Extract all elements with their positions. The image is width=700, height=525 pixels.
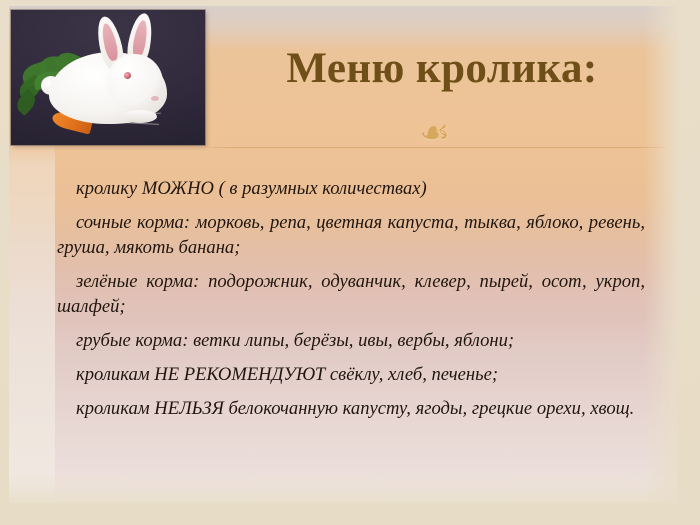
paragraph-not-recommended: кроликам НЕ РЕКОМЕНДУЮТ свёклу, хлеб, пе… xyxy=(57,362,645,387)
paragraph-juicy-feed: сочные корма: морковь, репа, цветная кап… xyxy=(57,210,645,260)
rabbit-nose xyxy=(151,96,159,101)
paragraph-forbidden: кроликам НЕЛЬЗЯ белокочанную капусту, яг… xyxy=(57,396,645,421)
paragraph-allowed-intro: кролику МОЖНО ( в разумных количествах) xyxy=(57,176,645,201)
flourish-ornament-icon: ☙ xyxy=(419,116,449,150)
ornamental-divider: ☙ xyxy=(203,118,666,158)
page-title: Меню кролика: xyxy=(212,47,672,90)
body-text: кролику МОЖНО ( в разумных количествах) … xyxy=(57,176,645,421)
paragraph-green-feed: зелёные корма: подорожник, одуванчик, кл… xyxy=(57,269,645,319)
rabbit-head xyxy=(107,54,163,110)
slide: Меню кролика: ☙ кролику МОЖНО ( в разумн… xyxy=(0,0,700,525)
rabbit-photo xyxy=(11,10,205,145)
rabbit-eye xyxy=(124,72,131,79)
paragraph-coarse-feed: грубые корма: ветки липы, берёзы, ивы, в… xyxy=(57,328,645,353)
rabbit-paw xyxy=(123,110,157,123)
